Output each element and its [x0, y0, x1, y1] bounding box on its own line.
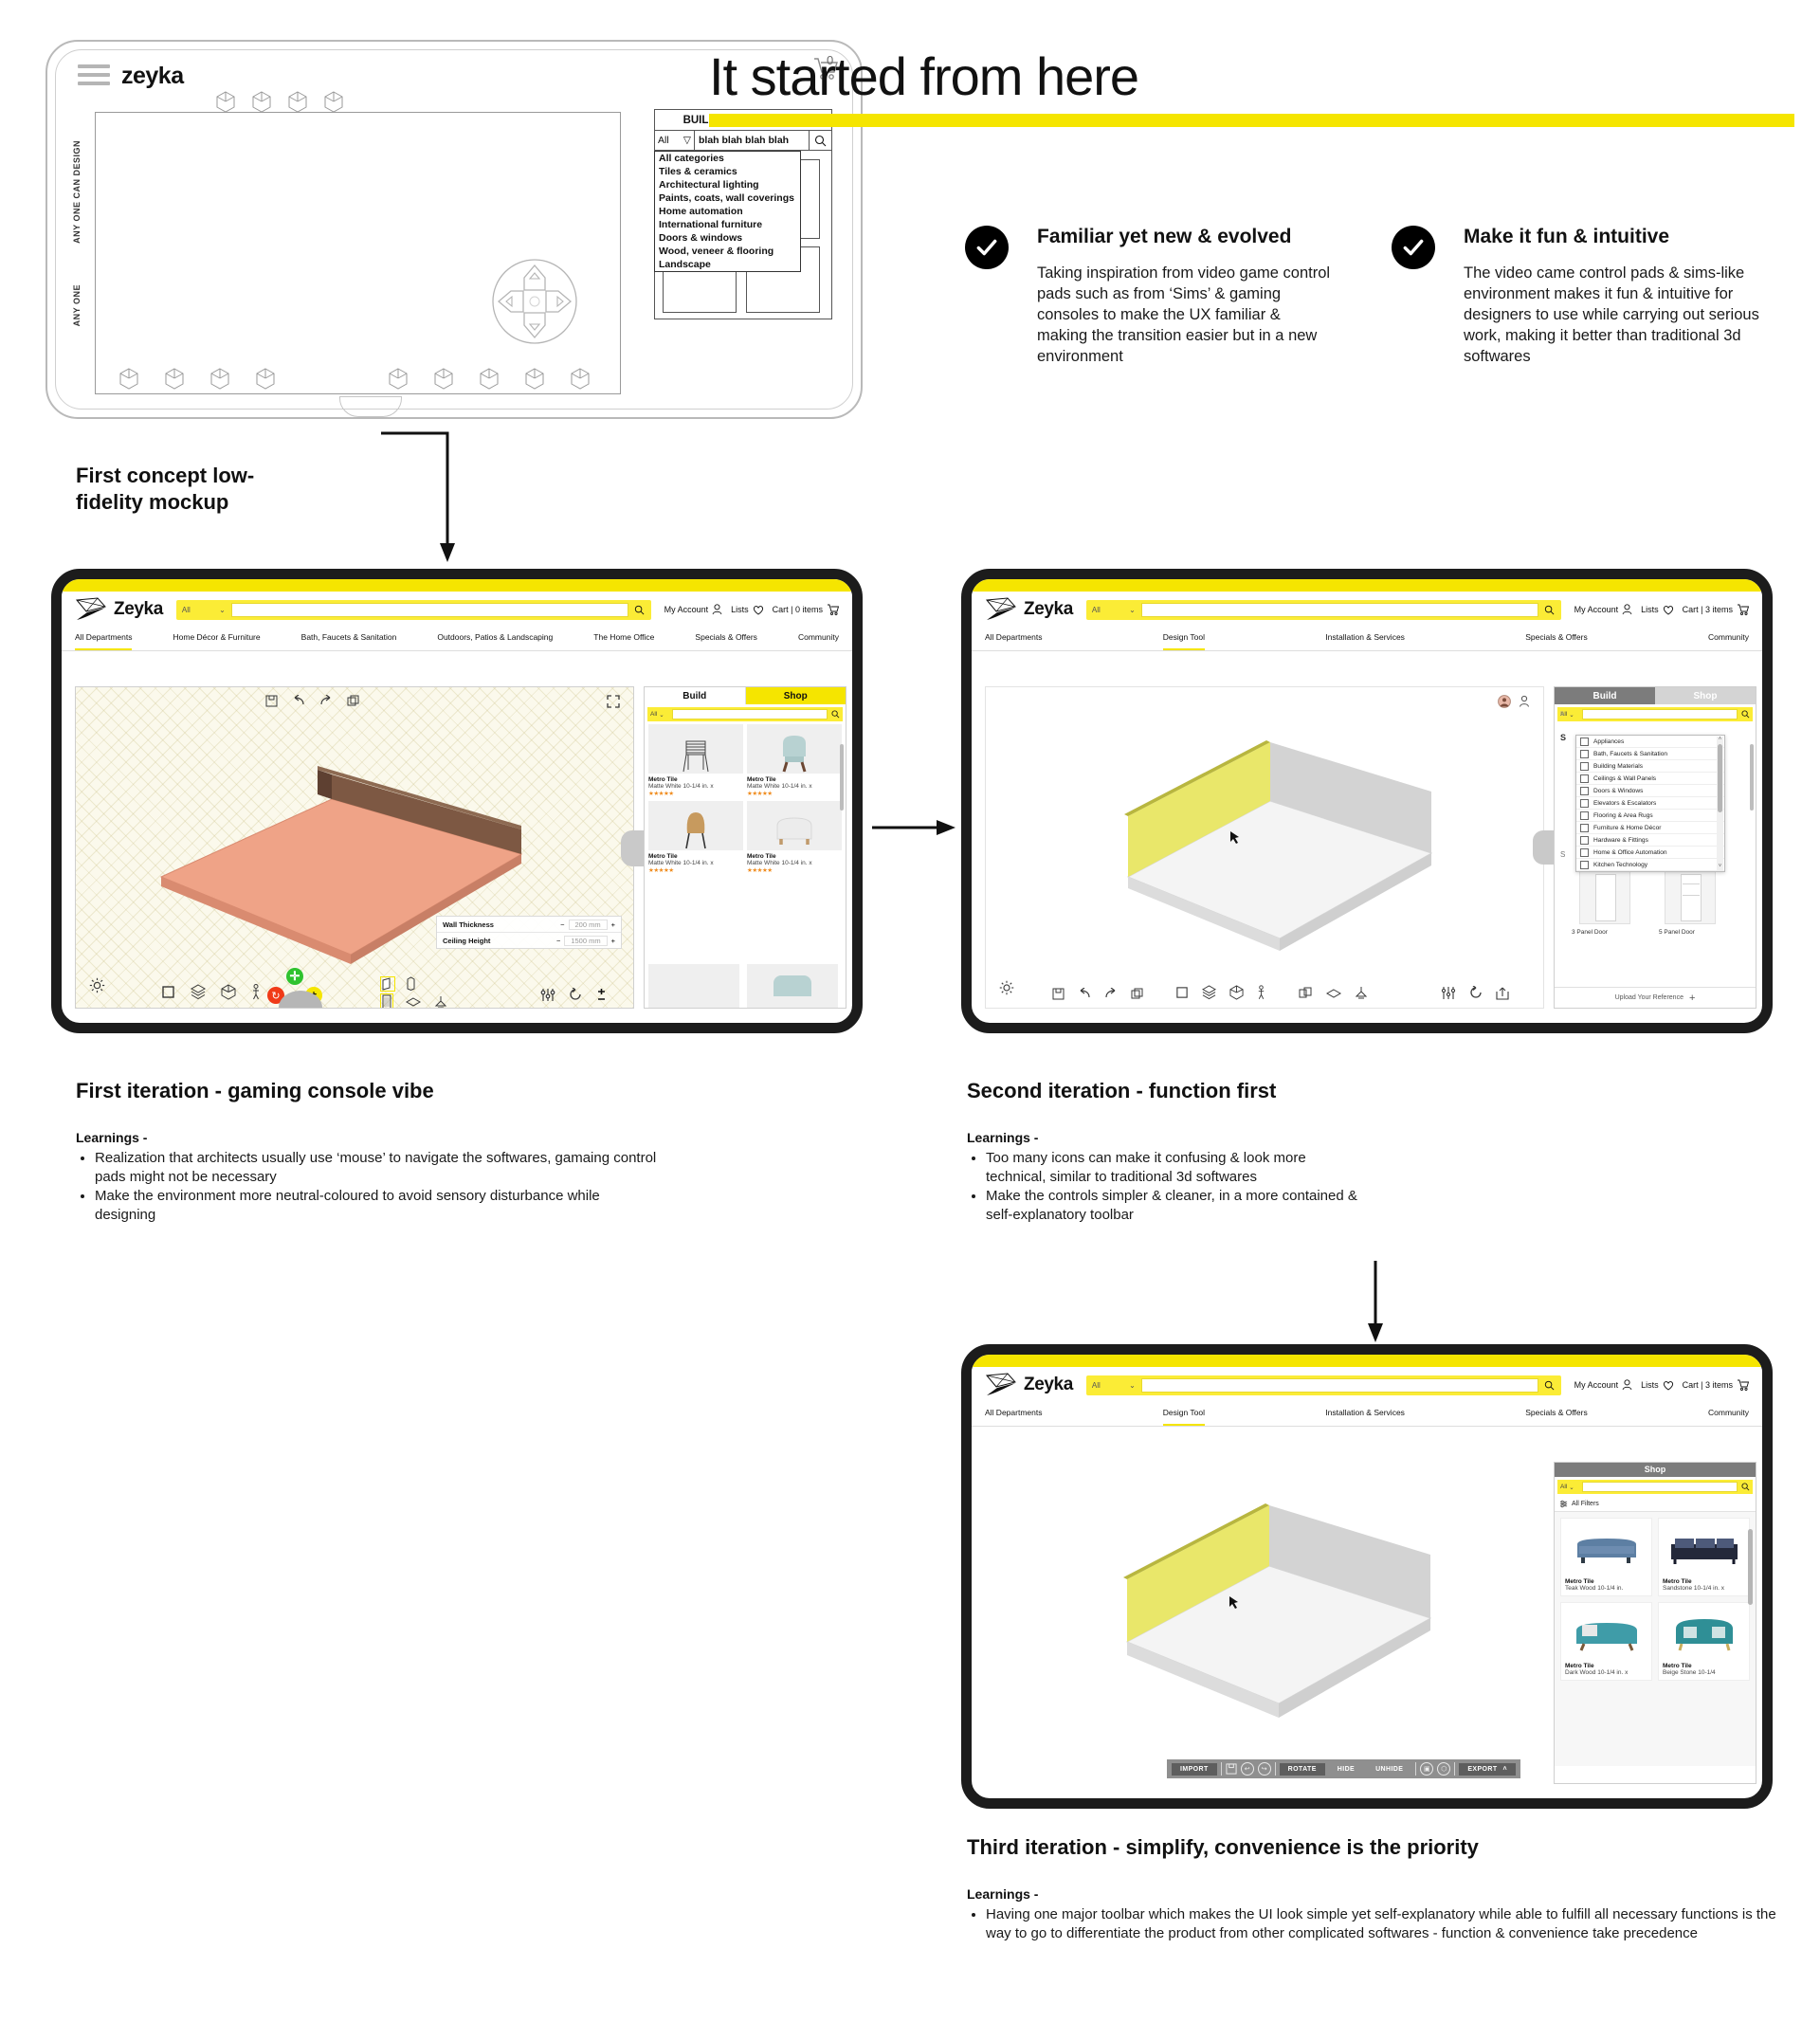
door-item-label: 5 Panel Door [1659, 929, 1695, 936]
cube-icon[interactable] [252, 91, 271, 113]
cube-icon[interactable] [165, 368, 184, 390]
add-person-icon[interactable] [1519, 695, 1532, 713]
layers-cube-icon[interactable] [1202, 985, 1216, 1000]
product-card[interactable]: Metro Tile Dark Wood 10-1/4 in. x [1560, 1602, 1652, 1681]
lamp-icon[interactable] [434, 995, 447, 1010]
lofi-cube-row-bottom-left [119, 368, 275, 390]
chevron-down-icon: ⌄ [659, 711, 664, 719]
my-account-label: My Account [1574, 605, 1619, 614]
iteration-3-learnings: Having one major toolbar which makes the… [986, 1905, 1782, 1943]
nav-item-design-tool[interactable]: Design Tool [1163, 1408, 1205, 1420]
header-search[interactable]: All ⌄ [1086, 600, 1561, 620]
cube-icon[interactable] [434, 368, 453, 390]
category-label: Home & Office Automation [1593, 849, 1667, 856]
product-desc: Matte White 10-1/4 in. x [747, 860, 842, 866]
human-scale-icon[interactable] [1257, 985, 1265, 1000]
panel-tabs: Build Shop [645, 687, 846, 704]
category-item[interactable]: Furniture & Home Décor [1576, 822, 1724, 834]
product-name: Metro Tile [1663, 1663, 1745, 1669]
iteration-2-tablet: Zeyka All ⌄ My Account Lists [961, 569, 1773, 1033]
toolbar-divider [1454, 1762, 1455, 1776]
panel-section-letter: S [1560, 850, 1565, 859]
chevron-down-icon[interactable]: ˅ [1717, 864, 1723, 870]
nav-item-community[interactable]: Community [1708, 632, 1749, 645]
floor-plane-icon[interactable] [406, 997, 421, 1007]
iteration-3-title: Third iteration - simplify, convenience … [967, 1835, 1479, 1860]
fullscreen-icon[interactable] [607, 695, 620, 713]
tablet-accent-bar [62, 579, 852, 592]
search-category-value: All [1092, 1381, 1101, 1390]
rotate-icon[interactable] [569, 988, 582, 1002]
cube-icon[interactable] [119, 368, 138, 390]
nav-item-specials[interactable]: Specials & Offers [1525, 632, 1588, 645]
brand-name: Zeyka [1024, 1375, 1073, 1395]
increment-icon[interactable]: + [611, 920, 615, 929]
product-name: Metro Tile [747, 853, 842, 860]
lists-label: Lists [731, 605, 749, 614]
product-grid: Metro Tile Teak Wood 10-1/4 in. Metro Ti… [1555, 1512, 1756, 1766]
panel-collapse-handle[interactable] [1533, 830, 1554, 865]
zeyka-mark-icon [985, 597, 1019, 622]
product-desc: Matte White 10-1/4 in. x [648, 860, 743, 866]
wall-corner-icon[interactable] [381, 977, 394, 991]
lists-button[interactable]: Lists [1641, 1380, 1674, 1391]
app-header: Zeyka All ⌄ My Account Lists [972, 1367, 1762, 1427]
my-account-label: My Account [664, 605, 709, 614]
increment-icon[interactable]: + [611, 937, 615, 945]
flow-arrow-1 [379, 431, 483, 569]
chevron-down-icon: ⌄ [1569, 711, 1574, 719]
lofi-design-canvas[interactable] [95, 112, 621, 394]
undo-icon[interactable]: ↩ [1241, 1762, 1254, 1776]
cube-icon[interactable] [1229, 985, 1244, 1000]
product-name: Metro Tile [747, 776, 842, 783]
sliders-icon[interactable] [540, 988, 555, 1002]
lofi-cube-row-bottom-right [389, 368, 590, 390]
brand-logo[interactable]: Zeyka [985, 1373, 1073, 1397]
tab-build[interactable]: Build [1555, 687, 1655, 704]
product-desc: Sandstone 10-1/4 in. x [1663, 1585, 1745, 1592]
check-circle-icon [965, 226, 1009, 269]
view-tools [1441, 986, 1509, 1000]
export-button[interactable]: EXPORT ˄ [1459, 1763, 1516, 1776]
hide-button[interactable]: HIDE [1329, 1763, 1363, 1776]
layers-cube-icon[interactable] [191, 984, 206, 1000]
tab-shop[interactable]: Shop [746, 687, 846, 704]
panel-collapse-handle[interactable] [621, 830, 644, 866]
all-filters-label: All Filters [1572, 1501, 1599, 1507]
nav-item-home-decor[interactable]: Home Décor & Furniture [173, 632, 261, 645]
lamp-icon [1580, 861, 1589, 869]
lamp-icon [1580, 774, 1589, 783]
heart-icon [1663, 605, 1674, 615]
upload-reference-button[interactable]: Upload Your Reference + [1555, 987, 1756, 1008]
lamp-icon[interactable] [1355, 986, 1368, 1000]
toolbar-divider [1415, 1762, 1416, 1776]
toolbar-divider [1221, 1762, 1222, 1776]
category-dropdown[interactable]: Appliances Bath, Faucets & Sanitation Bu… [1575, 735, 1725, 872]
brand-name: Zeyka [114, 599, 163, 620]
dimension-controls: Wall Thickness − 200 mm + Ceiling Height… [436, 916, 622, 949]
search-icon[interactable] [1738, 1483, 1753, 1491]
product-name: Metro Tile [1663, 1578, 1745, 1585]
panel-scrollbar[interactable] [840, 744, 844, 811]
adjust-tools [540, 988, 608, 1002]
user-avatar[interactable] [1498, 695, 1511, 713]
hero-title-underline [709, 114, 1794, 127]
app-header: Zeyka All ⌄ My Account Lists [972, 592, 1762, 651]
my-account-button[interactable]: My Account [1574, 1379, 1633, 1391]
shop-panel-1: Build Shop All ⌄ Metro Tile Matte White … [644, 686, 846, 1009]
category-label: Bath, Faucets & Sanitation [1593, 751, 1667, 757]
shop-panel-3: Shop All ⌄ All Filters Metro Tile [1554, 1462, 1756, 1784]
unhide-button[interactable]: UNHIDE [1367, 1763, 1411, 1776]
human-scale-icon[interactable] [251, 984, 261, 1000]
redo-icon[interactable] [1104, 988, 1118, 1000]
product-rating: ★★★★★ [747, 866, 842, 874]
header-search[interactable]: All ⌄ [176, 600, 651, 620]
main-nav: All Departments Home Décor & Furniture B… [62, 628, 852, 651]
lists-label: Lists [1641, 1380, 1659, 1390]
cube-icon[interactable] [288, 91, 307, 113]
settings-gear-icon[interactable] [89, 977, 105, 998]
brand-name: Zeyka [1024, 599, 1073, 620]
category-label: Elevators & Escalators [1593, 800, 1656, 807]
search-icon[interactable] [1738, 710, 1753, 719]
tab-build[interactable]: Build [645, 687, 746, 704]
hamburger-menu-icon[interactable] [78, 64, 110, 85]
lofi-brand-logo: zeyka [121, 63, 184, 90]
product-thumbnail [1663, 1607, 1745, 1660]
chevron-up-icon[interactable]: ˄ [1717, 737, 1723, 743]
nav-item-home-office[interactable]: The Home Office [593, 632, 654, 645]
learning-item: Too many icons can make it confusing & l… [986, 1149, 1365, 1186]
plus-minus-icon[interactable] [595, 988, 608, 1002]
file-tools [1052, 988, 1143, 1000]
design-viewport-2[interactable] [985, 686, 1544, 1009]
panel-search[interactable]: All ⌄ [1557, 707, 1753, 721]
product-desc: Beige Stone 10-1/4 [1663, 1669, 1745, 1676]
search-category-value: All [182, 606, 191, 614]
nav-item-all-departments[interactable]: All Departments [75, 632, 132, 645]
lists-button[interactable]: Lists [1641, 605, 1674, 615]
feature-body: The video came control pads & sims-like … [1464, 264, 1759, 368]
lamp-icon [1580, 824, 1589, 832]
app-header: Zeyka All ⌄ My Account Lists [62, 592, 852, 651]
design-viewport-3[interactable]: IMPORT ↩ ↪ ROTATE HIDE UNHIDE ▣ ⬡ EXPORT… [985, 1462, 1544, 1784]
plus-icon: + [1689, 993, 1695, 1004]
save-icon[interactable] [265, 695, 278, 707]
cart-button[interactable]: Cart | 3 items [1683, 604, 1749, 615]
chevron-down-icon: ⌄ [219, 606, 226, 614]
rotate-button[interactable]: ROTATE [1280, 1763, 1325, 1776]
search-icon[interactable] [628, 605, 651, 615]
product-card[interactable]: Metro Tile Matte White 10-1/4 in. x ★★★★… [648, 724, 743, 797]
door-thumbnail[interactable] [1665, 869, 1716, 924]
category-item[interactable]: Kitchen Technology [1576, 859, 1724, 871]
redo-icon[interactable] [319, 695, 333, 707]
lofi-category-select[interactable]: All ▽ [655, 131, 695, 150]
product-thumbnail-partial[interactable] [648, 964, 739, 1008]
search-input[interactable] [1141, 1378, 1538, 1393]
save-icon[interactable] [1052, 988, 1065, 1000]
search-input[interactable] [1141, 603, 1538, 617]
search-icon[interactable] [828, 710, 843, 719]
floor-plane-icon[interactable] [1326, 989, 1341, 998]
feature-body: Taking inspiration from video game contr… [1037, 264, 1331, 368]
lofi-build-shop-panel: BUILD SHOP All ▽ blah blah blah blah All… [654, 109, 832, 319]
duplicate-icon[interactable] [347, 695, 359, 707]
nav-item-design-tool[interactable]: Design Tool [1163, 632, 1205, 645]
lofi-category-value: All [658, 135, 669, 146]
panel-category-select[interactable]: All ⌄ [1557, 1484, 1582, 1491]
product-thumbnail-partial[interactable] [747, 964, 838, 1008]
panel-section-letter: S [1560, 733, 1566, 742]
category-label: Appliances [1593, 738, 1624, 745]
zeyka-mark-icon [985, 1373, 1019, 1397]
panel-search[interactable]: All ⌄ [647, 707, 843, 721]
category-item[interactable]: Elevators & Escalators [1576, 797, 1724, 810]
iteration-1-tablet: Zeyka All ⌄ My Account Lists [51, 569, 863, 1033]
panel-category-value: All [1560, 1484, 1567, 1490]
move-tool-button[interactable]: ✛ [286, 968, 303, 985]
tab-shop[interactable]: Shop [1655, 687, 1756, 704]
header-actions: My Account Lists Cart | 3 items [1574, 604, 1749, 615]
ceiling-height-label: Ceiling Height [443, 937, 490, 945]
lists-button[interactable]: Lists [731, 605, 764, 615]
lofi-dropdown-item[interactable]: Tiles & ceramics [655, 165, 800, 178]
product-thumbnail [648, 801, 743, 850]
product-card[interactable]: Metro Tile Matte White 10-1/4 in. x ★★★★… [648, 801, 743, 874]
nav-item-installation[interactable]: Installation & Services [1325, 1408, 1405, 1420]
check-circle-icon [1392, 226, 1435, 269]
import-button[interactable]: IMPORT [1172, 1763, 1217, 1776]
product-name: Metro Tile [1565, 1578, 1647, 1585]
lofi-search-input[interactable]: blah blah blah blah [695, 131, 809, 150]
decrement-icon[interactable]: − [556, 937, 560, 945]
product-card[interactable]: Metro Tile Matte White 10-1/4 in. x ★★★★… [747, 801, 842, 874]
panel-search-input[interactable] [1582, 1482, 1738, 1492]
iteration-1-learnings-head: Learnings - [76, 1130, 147, 1145]
search-icon[interactable] [1538, 605, 1561, 615]
cart-icon [1737, 604, 1749, 615]
lofi-dropdown-item[interactable]: All categories [655, 152, 800, 165]
square-tool-icon[interactable] [1175, 986, 1189, 999]
product-name: Metro Tile [648, 776, 743, 783]
nav-item-all-departments[interactable]: All Departments [985, 632, 1042, 645]
door-item-label: 3 Panel Door [1572, 929, 1608, 936]
user-icon [712, 604, 722, 615]
product-thumbnail [1565, 1607, 1647, 1660]
save-icon[interactable] [1226, 1763, 1237, 1775]
lamp-icon [1580, 750, 1589, 758]
nav-item-installation[interactable]: Installation & Services [1325, 632, 1405, 645]
cube-icon[interactable] [256, 368, 275, 390]
cube-icon[interactable] [324, 91, 343, 113]
cube-icon[interactable] [216, 91, 235, 113]
panel-search[interactable]: All ⌄ [1557, 1480, 1753, 1494]
scrollbar-thumb[interactable] [1718, 744, 1722, 812]
category-item[interactable]: Hardware & Fittings [1576, 834, 1724, 847]
panel-search-input[interactable] [1582, 709, 1738, 719]
undo-icon[interactable] [1078, 988, 1091, 1000]
nav-item-specials[interactable]: Specials & Offers [695, 632, 757, 645]
column-icon[interactable] [406, 976, 416, 991]
learning-item: Make the controls simpler & cleaner, in … [986, 1187, 1365, 1224]
panel-category-value: All [650, 711, 657, 718]
chevron-down-icon: ⌄ [1129, 1381, 1136, 1390]
main-toolbar: IMPORT ↩ ↪ ROTATE HIDE UNHIDE ▣ ⬡ EXPORT… [1167, 1759, 1520, 1778]
category-item[interactable]: Doors & Windows [1576, 785, 1724, 797]
all-filters-button[interactable]: All Filters [1555, 1497, 1756, 1512]
category-label: Furniture & Home Décor [1593, 825, 1661, 831]
ceiling-height-value[interactable]: 1500 mm [564, 936, 607, 946]
lofi-home-indicator [339, 396, 402, 417]
lamp-icon [1580, 787, 1589, 795]
lofi-dropdown-item[interactable]: Paints, coats, wall coverings [655, 191, 800, 205]
panel-scrollbar[interactable] [1748, 1529, 1753, 1605]
category-item[interactable]: Building Materials [1576, 760, 1724, 773]
cube-icon[interactable] [221, 984, 236, 1000]
my-account-button[interactable]: My Account [1574, 604, 1633, 615]
product-thumbnail [1663, 1522, 1745, 1576]
dropdown-scrollbar[interactable]: ˄ ˅ [1717, 737, 1723, 870]
search-icon[interactable] [809, 131, 831, 150]
category-item[interactable]: Bath, Faucets & Sanitation [1576, 748, 1724, 760]
brand-logo[interactable]: Zeyka [75, 597, 163, 622]
lamp-icon [1580, 848, 1589, 857]
heart-icon [1663, 1380, 1674, 1391]
feature-card-1: Familiar yet new & evolved Taking inspir… [1037, 226, 1331, 368]
category-item[interactable]: Home & Office Automation [1576, 847, 1724, 859]
my-account-label: My Account [1574, 1380, 1619, 1390]
product-thumbnail [1565, 1522, 1647, 1576]
lofi-dropdown-item[interactable]: Architectural lighting [655, 178, 800, 191]
my-account-button[interactable]: My Account [664, 604, 723, 615]
build-panel-2: Build Shop All ⌄ B S S Appliances Bath, … [1554, 686, 1756, 1009]
cube-icon[interactable] [210, 368, 229, 390]
lofi-category-dropdown[interactable]: All categories Tiles & ceramics Architec… [654, 151, 801, 272]
category-item[interactable]: Appliances [1576, 736, 1724, 748]
cube-icon[interactable] [389, 368, 408, 390]
product-card[interactable]: Metro Tile Matte White 10-1/4 in. x ★★★★… [747, 724, 842, 797]
lofi-dropdown-item[interactable]: Doors & windows [655, 231, 800, 245]
view-2d-icon[interactable]: ▣ [1420, 1762, 1433, 1776]
search-category-select[interactable]: All ⌄ [1086, 606, 1141, 614]
redo-icon[interactable]: ↪ [1258, 1762, 1271, 1776]
square-tool-icon[interactable] [161, 985, 175, 999]
product-card[interactable]: Metro Tile Sandstone 10-1/4 in. x [1658, 1518, 1750, 1596]
category-label: Doors & Windows [1593, 788, 1643, 794]
door-thumbnail[interactable] [1579, 869, 1630, 924]
product-grid: Metro Tile Matte White 10-1/4 in. x ★★★★… [645, 724, 846, 874]
lofi-caption: First concept low-fidelity mockup [76, 463, 303, 516]
undo-icon[interactable] [292, 695, 305, 707]
nav-item-community[interactable]: Community [1708, 1408, 1749, 1420]
lamp-icon [1580, 811, 1589, 820]
category-item[interactable]: Ceilings & Wall Panels [1576, 773, 1724, 785]
nav-item-specials[interactable]: Specials & Offers [1525, 1408, 1588, 1420]
category-item[interactable]: Flooring & Area Rugs [1576, 810, 1724, 822]
material-tools-top [381, 976, 416, 991]
header-search[interactable]: All ⌄ [1086, 1375, 1561, 1395]
header-actions: My Account Lists Cart | 0 items [664, 604, 839, 615]
lofi-dropdown-item[interactable]: Landscape [655, 258, 800, 271]
wall-thickness-label: Wall Thickness [443, 920, 494, 929]
nav-item-outdoors[interactable]: Outdoors, Patios & Landscaping [437, 632, 553, 645]
nav-item-community[interactable]: Community [798, 632, 839, 645]
lamp-icon [1580, 799, 1589, 808]
settings-gear-icon[interactable] [999, 980, 1014, 1000]
header-actions: My Account Lists Cart | 3 items [1574, 1379, 1749, 1391]
cart-icon [827, 604, 839, 615]
panel-search-input[interactable] [672, 709, 828, 719]
category-label: Building Materials [1593, 763, 1643, 770]
panel-title: Shop [1555, 1463, 1756, 1477]
iteration-3-learnings-head: Learnings - [967, 1886, 1038, 1902]
wall-thickness-row: Wall Thickness − 200 mm + [437, 917, 621, 933]
wall-thickness-value[interactable]: 200 mm [569, 920, 608, 930]
cart-button[interactable]: Cart | 3 items [1683, 1379, 1749, 1391]
lofi-dropdown-item[interactable]: Wood, veneer & flooring [655, 245, 800, 258]
lofi-vertical-label-2: ANY ONE [72, 284, 82, 326]
search-input[interactable] [231, 603, 628, 617]
rotate-icon[interactable] [1469, 986, 1483, 1000]
lamp-icon [1580, 738, 1589, 746]
cube-icon[interactable] [480, 368, 499, 390]
view-3d-icon[interactable]: ⬡ [1437, 1762, 1450, 1776]
wall-panels-icon[interactable] [1299, 987, 1313, 1000]
shape-tools [161, 984, 261, 1000]
product-card[interactable]: Metro Tile Beige Stone 10-1/4 [1658, 1602, 1750, 1681]
search-category-select[interactable]: All ⌄ [176, 606, 231, 614]
texture-icon[interactable] [381, 994, 392, 1009]
cube-icon[interactable] [571, 368, 590, 390]
main-nav: All Departments Design Tool Installation… [972, 628, 1762, 651]
nav-item-all-departments[interactable]: All Departments [985, 1408, 1042, 1420]
product-card[interactable]: Metro Tile Teak Wood 10-1/4 in. [1560, 1518, 1652, 1596]
sliders-icon[interactable] [1441, 986, 1456, 1000]
brand-logo[interactable]: Zeyka [985, 597, 1073, 622]
design-viewport-1[interactable]: Wall Thickness − 200 mm + Ceiling Height… [75, 686, 634, 1009]
export-icon[interactable] [1496, 987, 1509, 1000]
lofi-vertical-label-1: ANY ONE CAN DESIGN [72, 140, 82, 244]
dpad-control[interactable] [491, 258, 578, 345]
toolbar-divider [1275, 1762, 1276, 1776]
category-label: Ceilings & Wall Panels [1593, 775, 1656, 782]
search-category-select[interactable]: All ⌄ [1086, 1381, 1141, 1390]
tablet-accent-bar [972, 579, 1762, 592]
cube-icon[interactable] [525, 368, 544, 390]
panel-category-select[interactable]: All ⌄ [647, 711, 672, 719]
filter-icon [1559, 1500, 1568, 1508]
export-label: EXPORT [1467, 1766, 1497, 1773]
chevron-down-icon: ⌄ [1569, 1484, 1574, 1491]
panel-scrollbar[interactable] [1750, 744, 1754, 811]
learning-item: Having one major toolbar which makes the… [986, 1905, 1782, 1942]
lofi-dropdown-item[interactable]: Home automation [655, 205, 800, 218]
duplicate-icon[interactable] [1131, 988, 1143, 1000]
nav-item-bath[interactable]: Bath, Faucets & Sanitation [301, 632, 397, 645]
search-icon[interactable] [1538, 1380, 1561, 1391]
decrement-icon[interactable]: − [560, 920, 564, 929]
lofi-dropdown-item[interactable]: International furniture [655, 218, 800, 231]
cart-button[interactable]: Cart | 0 items [773, 604, 839, 615]
product-name: Metro Tile [648, 853, 743, 860]
chevron-down-icon: ▽ [683, 135, 691, 146]
iteration-2-learnings: Too many icons can make it confusing & l… [986, 1149, 1365, 1225]
user-icon [1622, 604, 1632, 615]
